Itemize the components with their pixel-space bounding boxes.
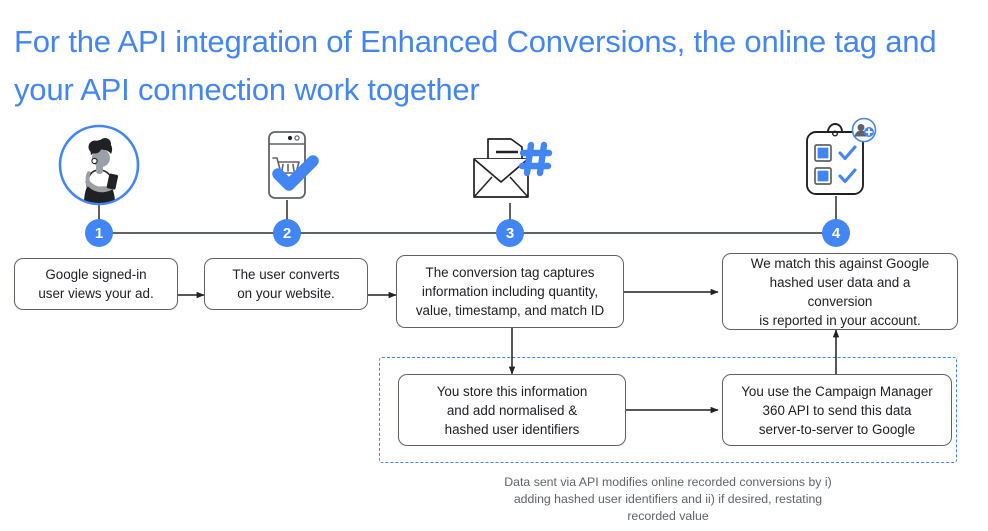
timeline-badge-4: 4 xyxy=(822,219,850,247)
flow-box-1-text: Google signed-in user views your ad. xyxy=(23,265,169,303)
flow-box-6-text: You use the Campaign Manager 360 API to … xyxy=(731,382,943,439)
flow-box-3[interactable]: The conversion tag captures information … xyxy=(396,255,624,328)
flow-box-1[interactable]: Google signed-in user views your ad. xyxy=(14,258,178,310)
flow-box-2-text: The user converts on your website. xyxy=(213,265,359,303)
timeline-badge-2: 2 xyxy=(273,219,301,247)
timeline-badge-1: 1 xyxy=(85,219,113,247)
diagram-canvas: For the API integration of Enhanced Conv… xyxy=(0,0,988,531)
flow-box-3-text: The conversion tag captures information … xyxy=(405,263,615,320)
timeline-badge-3: 3 xyxy=(496,219,524,247)
flow-box-4-text: We match this against Google hashed user… xyxy=(731,254,949,330)
flow-box-2[interactable]: The user converts on your website. xyxy=(204,258,368,310)
flow-box-4[interactable]: We match this against Google hashed user… xyxy=(722,253,958,330)
flow-box-5-text: You store this information and add norma… xyxy=(407,382,617,439)
flow-box-6[interactable]: You use the Campaign Manager 360 API to … xyxy=(722,374,952,446)
flow-box-5[interactable]: You store this information and add norma… xyxy=(398,374,626,446)
